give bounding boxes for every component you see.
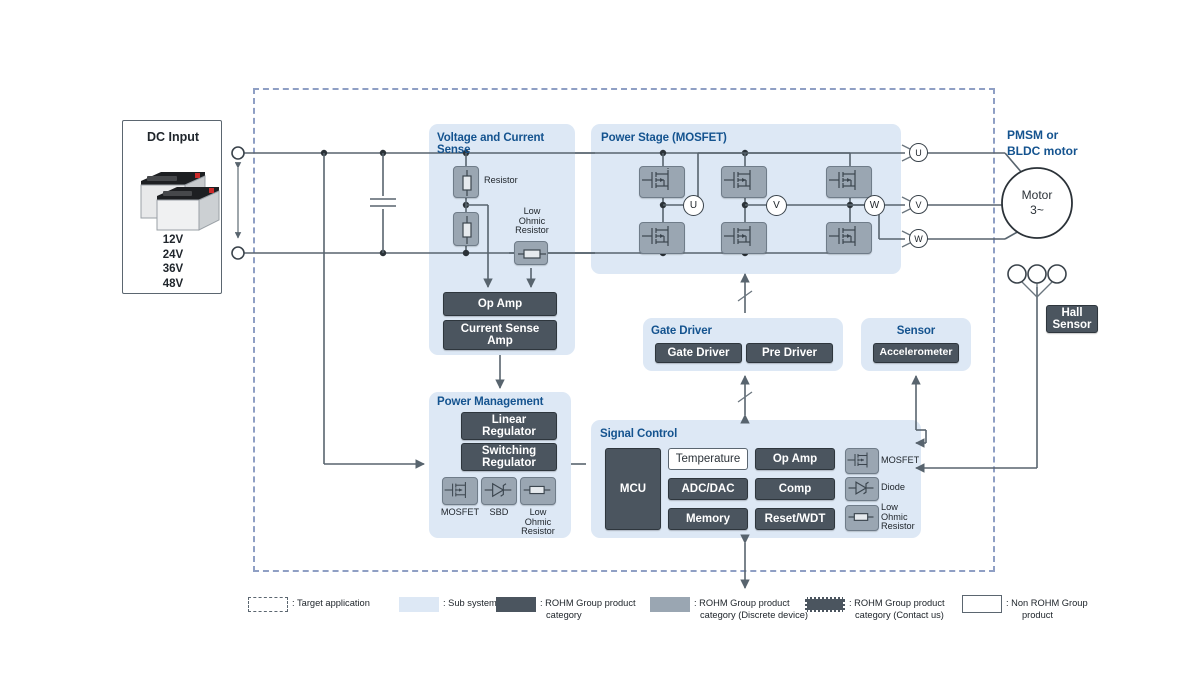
low-ohmic-line: Resistor <box>505 226 559 236</box>
low-ohmic-resistor-icon <box>845 505 879 531</box>
mosfet-glyph <box>827 223 867 249</box>
mosfet-icon <box>721 166 767 198</box>
accelerometer-block[interactable]: Accelerometer <box>873 343 959 363</box>
label-line: Diode <box>881 483 931 493</box>
low-ohmic-resistor-icon <box>520 477 556 505</box>
voltage-current-sense-title: Voltage and Current Sense <box>437 132 577 156</box>
mosfet-icon <box>639 222 685 254</box>
power-stage-title: Power Stage (MOSFET) <box>601 132 801 144</box>
diode-glyph <box>846 478 876 498</box>
legend-swatch-sub-system <box>399 597 439 612</box>
block-line: Current Sense <box>461 323 540 335</box>
sc-low-ohmic-label: Low Ohmic Resistor <box>881 503 931 532</box>
op-amp-sense-block[interactable]: Op Amp <box>443 292 557 316</box>
mosfet-icon <box>845 448 879 474</box>
reset-wdt-block[interactable]: Reset/WDT <box>755 508 835 530</box>
block-line: Amp <box>487 335 513 347</box>
phase-node-u: U <box>683 195 704 216</box>
mosfet-icon <box>442 477 478 505</box>
label-line: MOSFET <box>438 508 482 518</box>
motor-terminal-u: U <box>909 143 928 162</box>
diode-icon <box>845 477 879 501</box>
mosfet-glyph <box>722 167 762 193</box>
wiring-layer <box>0 0 1200 700</box>
resistor-glyph <box>846 506 876 528</box>
current-sense-amp-block[interactable]: Current Sense Amp <box>443 320 557 350</box>
low-ohmic-resistor-label: Low Ohmic Resistor <box>505 207 559 236</box>
block-line: Linear <box>492 414 527 426</box>
sc-diode-label: Diode <box>881 483 931 493</box>
motor-terminal-v: V <box>909 195 928 214</box>
pm-low-ohmic-label: Low Ohmic Resistor <box>516 508 560 537</box>
op-amp-block[interactable]: Op Amp <box>755 448 835 470</box>
resistor-glyph <box>454 213 480 247</box>
legend-line: : Non ROHM Group <box>1006 598 1136 610</box>
phase-node-v: V <box>766 195 787 216</box>
power-management-title: Power Management <box>437 396 577 408</box>
mosfet-glyph <box>443 478 475 502</box>
block-line: Hall <box>1061 307 1082 319</box>
motor-note: PMSM or BLDC motor <box>1007 128 1127 159</box>
motor-note-line: PMSM or <box>1007 128 1127 144</box>
memory-block[interactable]: Memory <box>668 508 748 530</box>
diode-icon <box>481 477 517 505</box>
resistor-icon <box>453 166 479 198</box>
label-line: MOSFET <box>881 456 931 466</box>
legend-label-target-application: : Target application <box>292 598 402 610</box>
switching-regulator-block[interactable]: Switching Regulator <box>461 443 557 471</box>
legend-line: product <box>1006 610 1136 622</box>
motor-note-line: BLDC motor <box>1007 144 1127 160</box>
low-ohmic-resistor-glyph <box>515 242 549 266</box>
label-line: SBD <box>477 508 521 518</box>
temperature-block[interactable]: Temperature <box>668 448 748 470</box>
sensor-title: Sensor <box>861 325 971 337</box>
resistor-glyph <box>454 167 480 199</box>
gate-driver-block[interactable]: Gate Driver <box>655 343 742 363</box>
diode-glyph <box>482 478 514 502</box>
legend-swatch-discrete-device <box>650 597 690 612</box>
mosfet-icon <box>826 222 872 254</box>
motor-label-line: Motor <box>1002 188 1072 203</box>
mosfet-icon <box>721 222 767 254</box>
motor-label-line: 3~ <box>1002 203 1072 218</box>
low-ohmic-resistor-icon <box>514 241 548 265</box>
block-line: Sensor <box>1053 319 1092 331</box>
mosfet-glyph <box>722 223 762 249</box>
diagram-canvas: DC Input 12V 24V 36V 48V <box>0 0 1200 700</box>
comp-block[interactable]: Comp <box>755 478 835 500</box>
block-line: Regulator <box>482 457 536 469</box>
linear-regulator-block[interactable]: Linear Regulator <box>461 412 557 440</box>
legend-swatch-non-rohm <box>962 595 1002 613</box>
motor-label: Motor 3~ <box>1002 188 1072 218</box>
adc-dac-block[interactable]: ADC/DAC <box>668 478 748 500</box>
gate-driver-title: Gate Driver <box>651 325 791 337</box>
mosfet-icon <box>826 166 872 198</box>
motor-terminal-w: W <box>909 229 928 248</box>
legend-label-non-rohm: : Non ROHM Group product <box>1006 598 1136 621</box>
legend-swatch-contact-us <box>805 597 845 612</box>
signal-control-title: Signal Control <box>600 428 760 440</box>
mcu-block[interactable]: MCU <box>605 448 661 530</box>
label-line: Resistor <box>516 527 560 537</box>
mosfet-glyph <box>640 223 680 249</box>
resistor-icon <box>453 212 479 246</box>
block-line: Regulator <box>482 426 536 438</box>
pre-driver-block[interactable]: Pre Driver <box>746 343 833 363</box>
hall-sensor-block[interactable]: Hall Sensor <box>1046 305 1098 333</box>
legend-swatch-rohm-product <box>496 597 536 612</box>
mosfet-glyph <box>846 449 876 471</box>
block-line: Switching <box>482 445 536 457</box>
legend-swatch-target-application <box>248 597 288 612</box>
mosfet-glyph <box>827 167 867 193</box>
pm-sbd-label: SBD <box>477 508 521 518</box>
resistor-glyph <box>521 478 553 502</box>
sc-mosfet-label: MOSFET <box>881 456 931 466</box>
label-line: Resistor <box>881 522 931 532</box>
pm-mosfet-label: MOSFET <box>438 508 482 518</box>
mosfet-glyph <box>640 167 680 193</box>
resistor-label: Resistor <box>484 176 544 186</box>
phase-node-w: W <box>864 195 885 216</box>
legend-line: : Target application <box>292 598 402 610</box>
mosfet-icon <box>639 166 685 198</box>
